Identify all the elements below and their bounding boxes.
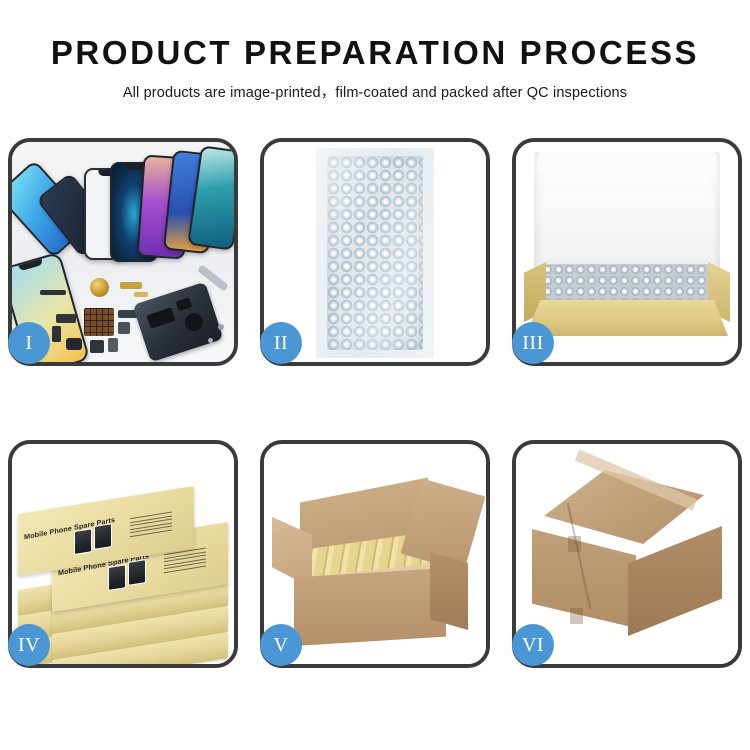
box-front-wall-icon	[526, 300, 728, 336]
camera-part-icon	[90, 340, 104, 353]
screw-part-icon	[218, 324, 224, 330]
board-lens-icon	[182, 311, 205, 334]
vibrator-part-icon	[108, 338, 118, 352]
phone-notch-icon	[125, 164, 143, 170]
box-lid-edge-icon	[538, 152, 716, 174]
foam-padding-icon	[542, 194, 714, 260]
step-panel-4: Mobile Phone Spare Parts Mobile Phone Sp…	[8, 440, 238, 668]
step-panel-1: I	[8, 138, 238, 366]
step-panel-5: V	[260, 440, 490, 668]
carton-tab-icon	[568, 536, 581, 552]
page-title: PRODUCT PREPARATION PROCESS	[0, 34, 750, 72]
step-badge-5: V	[260, 624, 302, 666]
carton-tab-icon	[570, 608, 583, 624]
speaker-part-icon	[66, 338, 82, 350]
box-spec-lines	[130, 512, 172, 540]
step-badge-3: III	[512, 322, 554, 364]
carton-front-face-icon	[294, 568, 446, 646]
page-header: PRODUCT PREPARATION PROCESS All products…	[0, 0, 750, 102]
step-panel-3: III	[512, 138, 742, 366]
step-badge-6: VI	[512, 624, 554, 666]
bubble-wrap-icon	[542, 264, 714, 304]
flex-cable-part-icon	[40, 290, 66, 295]
box-product-image	[94, 523, 112, 550]
connector-part-icon	[52, 326, 61, 342]
screw-part-icon	[208, 338, 213, 343]
board-chip-icon	[146, 307, 175, 328]
board-chip-icon	[176, 297, 192, 311]
box-product-image	[74, 528, 92, 555]
box-product-image	[128, 559, 146, 586]
carton-side-face-icon	[430, 552, 468, 630]
flex-cable-part-icon	[134, 292, 148, 297]
step-panel-6: VI	[512, 440, 742, 668]
connector-part-icon	[118, 322, 130, 334]
coil-part-icon	[90, 278, 109, 297]
chip-array-part-icon	[84, 308, 114, 336]
step-badge-2: II	[260, 322, 302, 364]
plastic-gloss-overlay	[327, 156, 423, 350]
page-subtitle: All products are image-printed，film-coat…	[0, 81, 750, 102]
connector-part-icon	[56, 314, 76, 323]
box-product-image	[108, 564, 126, 591]
step-badge-1: I	[8, 322, 50, 364]
step-badge-4: IV	[8, 624, 50, 666]
phone-notch-icon	[18, 259, 43, 271]
flex-cable-part-icon	[120, 282, 142, 289]
step-panel-2: II	[260, 138, 490, 366]
process-steps-grid: I II III	[8, 138, 742, 668]
